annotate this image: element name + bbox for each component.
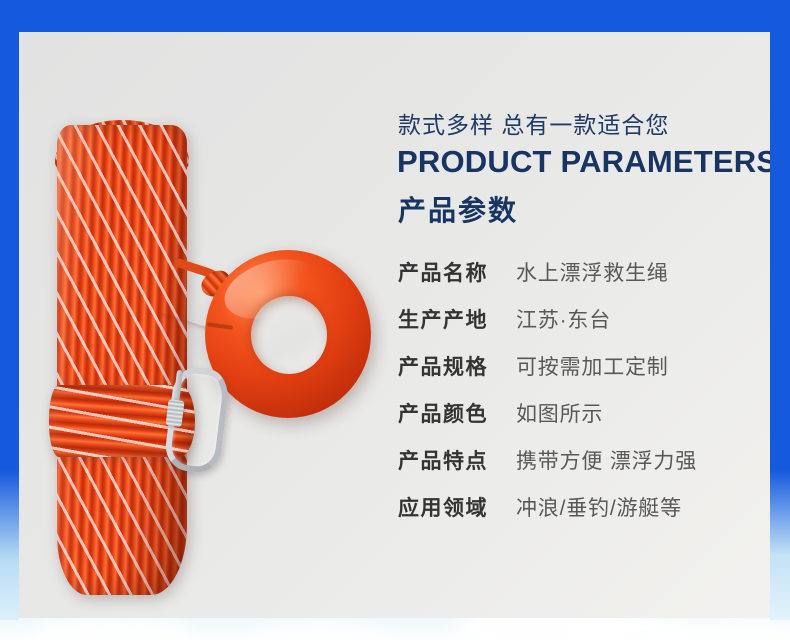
product-photo (19, 32, 379, 618)
spec-value: 如图所示 (516, 398, 603, 428)
spec-row: 生产产地 江苏·东台 (398, 304, 758, 351)
cloud-shape (30, 614, 190, 644)
product-parameters-banner: 款式多样 总有一款适合您 PRODUCT PARAMETERS 产品参数 产品名… (0, 0, 790, 644)
spec-value: 水上漂浮救生绳 (516, 257, 669, 287)
frame-band-top (0, 0, 790, 32)
spec-label: 应用领域 (398, 492, 516, 522)
spec-label: 产品名称 (398, 257, 516, 287)
content-panel: 款式多样 总有一款适合您 PRODUCT PARAMETERS 产品参数 产品名… (19, 32, 770, 618)
spec-table: 产品名称 水上漂浮救生绳 生产产地 江苏·东台 产品规格 可按需加工定制 产品颜… (398, 257, 758, 539)
spec-label: 产品特点 (398, 445, 516, 475)
ring-hole (251, 296, 327, 374)
spec-value: 携带方便 漂浮力强 (516, 445, 697, 475)
page-title-cn: 产品参数 (398, 189, 518, 229)
frame-band-right (770, 0, 790, 620)
parameters-section: 款式多样 总有一款适合您 PRODUCT PARAMETERS 产品参数 产品名… (378, 32, 770, 618)
spec-row: 产品颜色 如图所示 (398, 398, 758, 445)
spec-row: 产品规格 可按需加工定制 (398, 351, 758, 398)
spec-row: 产品名称 水上漂浮救生绳 (398, 257, 758, 304)
spec-value: 可按需加工定制 (516, 351, 669, 381)
cloud-shape (250, 622, 390, 644)
spec-row: 产品特点 携带方便 漂浮力强 (398, 445, 758, 492)
page-title-en: PRODUCT PARAMETERS (397, 144, 770, 180)
ring-seam (207, 322, 233, 330)
floating-ring (205, 250, 371, 418)
carabiner-lock-sleeve (165, 399, 184, 427)
spec-label: 产品颜色 (398, 398, 516, 428)
spec-label: 产品规格 (398, 351, 516, 381)
spec-row: 应用领域 冲浪/垂钓/游艇等 (398, 492, 758, 539)
tagline: 款式多样 总有一款适合您 (398, 106, 669, 140)
spec-value: 江苏·东台 (516, 304, 611, 334)
rope-coil (57, 125, 187, 595)
spec-value: 冲浪/垂钓/游艇等 (516, 492, 682, 522)
rope-shading (57, 125, 187, 595)
frame-band-left (0, 0, 19, 620)
spec-label: 生产产地 (398, 304, 516, 334)
